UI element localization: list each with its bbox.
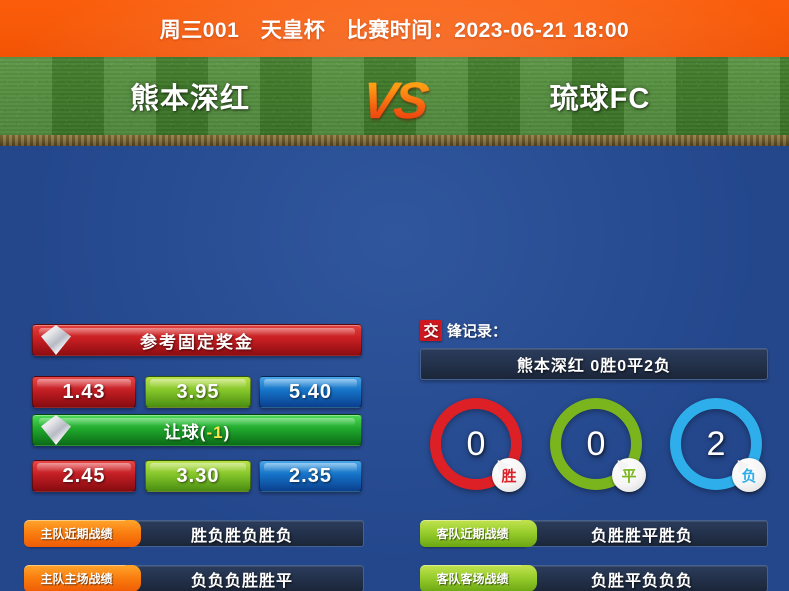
- home-team-name: 熊本深红: [60, 57, 320, 135]
- h2h-label-text: 锋记录：: [447, 320, 507, 341]
- h2h-lose-badge: 负: [732, 458, 766, 492]
- h2h-tag-icon: 交: [420, 320, 442, 341]
- fixed-odds-title-bar: 参考固定奖金: [32, 324, 362, 356]
- home-venue-form-label: 主队主场战绩: [24, 565, 129, 591]
- home-venue-form-row: 主队主场战绩 负负负胜胜平: [24, 565, 364, 591]
- handicap-title-bar: 让球(-1): [32, 414, 362, 446]
- h2h-lose-count: 2: [707, 427, 726, 461]
- h2h-ring-win: 0 胜: [430, 398, 522, 490]
- h2h-draw-count: 0: [587, 427, 606, 461]
- away-recent-form-row: 客队近期战绩 负胜胜平胜负: [420, 520, 768, 547]
- away-venue-form-row: 客队客场战绩 负胜平负负负: [420, 565, 768, 591]
- fixed-odds-draw[interactable]: 3.95: [145, 376, 251, 408]
- home-venue-form-value: 负负负胜胜平: [120, 565, 364, 591]
- handicap-odds-home[interactable]: 2.45: [32, 460, 136, 492]
- home-recent-form-row: 主队近期战绩 胜负胜负胜负: [24, 520, 364, 547]
- diamond-icon: [41, 415, 71, 445]
- away-team-name: 琉球FC: [470, 57, 730, 135]
- handicap-odds-away[interactable]: 2.35: [259, 460, 362, 492]
- stats-panel: 参考固定奖金 1.43 3.95 5.40 让球(-1) 2.45 3.30 2…: [0, 146, 789, 591]
- h2h-summary: 熊本深红 0胜0平2负: [420, 348, 768, 380]
- home-recent-form-label: 主队近期战绩: [24, 520, 129, 547]
- fixed-odds-home[interactable]: 1.43: [32, 376, 136, 408]
- h2h-win-count: 0: [467, 427, 486, 461]
- away-venue-form-value: 负胜平负负负: [516, 565, 768, 591]
- fixed-odds-title-label: 参考固定奖金: [140, 328, 254, 353]
- h2h-ring-lose: 2 负: [670, 398, 762, 490]
- match-header-bar: 周三001 天皇杯 比赛时间：2023-06-21 18:00: [0, 0, 789, 57]
- diamond-icon: [41, 325, 71, 355]
- h2h-ring-draw: 0 平: [550, 398, 642, 490]
- away-venue-form-label: 客队客场战绩: [420, 565, 525, 591]
- fixed-odds-away[interactable]: 5.40: [259, 376, 362, 408]
- h2h-draw-badge: 平: [612, 458, 646, 492]
- away-recent-form-value: 负胜胜平胜负: [516, 520, 768, 547]
- h2h-section-label: 交 锋记录：: [420, 320, 507, 341]
- handicap-value: -1: [206, 423, 223, 442]
- vs-icon: VS: [351, 62, 437, 140]
- match-preview-card: 周三001 天皇杯 比赛时间：2023-06-21 18:00 熊本深红 VS …: [0, 0, 789, 591]
- handicap-odds-draw[interactable]: 3.30: [145, 460, 251, 492]
- away-recent-form-label: 客队近期战绩: [420, 520, 525, 547]
- h2h-rings: 0 胜 0 平 2 负: [420, 398, 768, 498]
- handicap-title-label: 让球(-1): [164, 418, 230, 443]
- match-header-text: 周三001 天皇杯 比赛时间：2023-06-21 18:00: [0, 0, 789, 57]
- home-recent-form-value: 胜负胜负胜负: [120, 520, 364, 547]
- h2h-win-badge: 胜: [492, 458, 526, 492]
